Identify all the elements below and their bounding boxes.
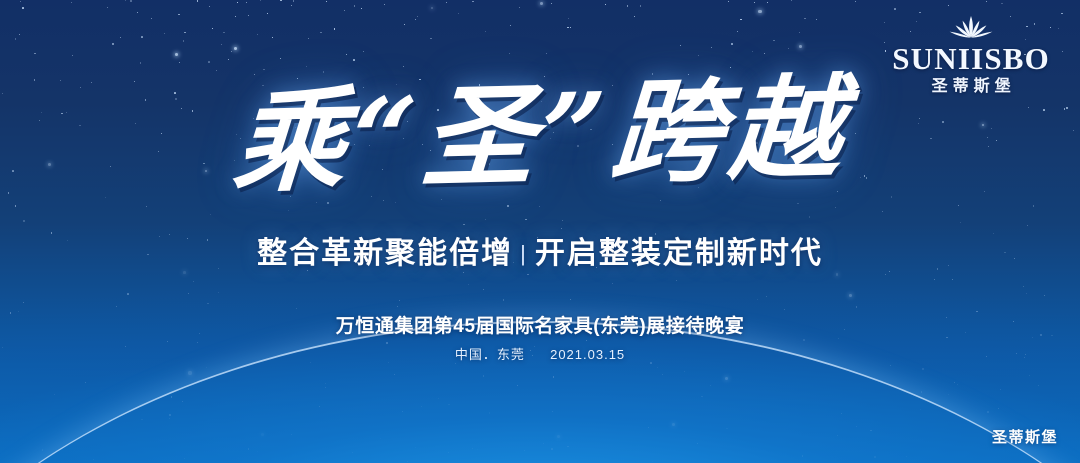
poster-banner: SUNIISBO 圣蒂斯堡 乘“圣”跨越 整合革新聚能倍增|开启整装定制新时代 … <box>0 0 1080 463</box>
event-name: 万恒通集团第45届国际名家具(东莞)展接待晚宴 <box>0 311 1080 338</box>
event-meta: 中国．东莞 2021.03.15 <box>0 344 1080 363</box>
hero-title-container: 乘“圣”跨越 <box>0 76 1080 197</box>
hero-subtitle: 整合革新聚能倍增|开启整装定制新时代 <box>0 228 1080 272</box>
logo-wordmark: SUNIISBO <box>892 43 1050 74</box>
event-date: 2021.03.15 <box>550 347 625 362</box>
lotus-flower-icon <box>948 12 994 42</box>
event-location: 中国．东莞 <box>455 347 525 362</box>
hero-title: 乘“圣”跨越 <box>229 69 851 205</box>
hero-subtitle-left: 整合革新聚能倍增 <box>257 237 513 270</box>
hero-subtitle-right: 开启整装定制新时代 <box>535 237 823 270</box>
watermark-label: 圣蒂斯堡 <box>992 426 1058 447</box>
planet-horizon-arc <box>0 321 1080 463</box>
subtitle-separator: | <box>520 241 528 267</box>
